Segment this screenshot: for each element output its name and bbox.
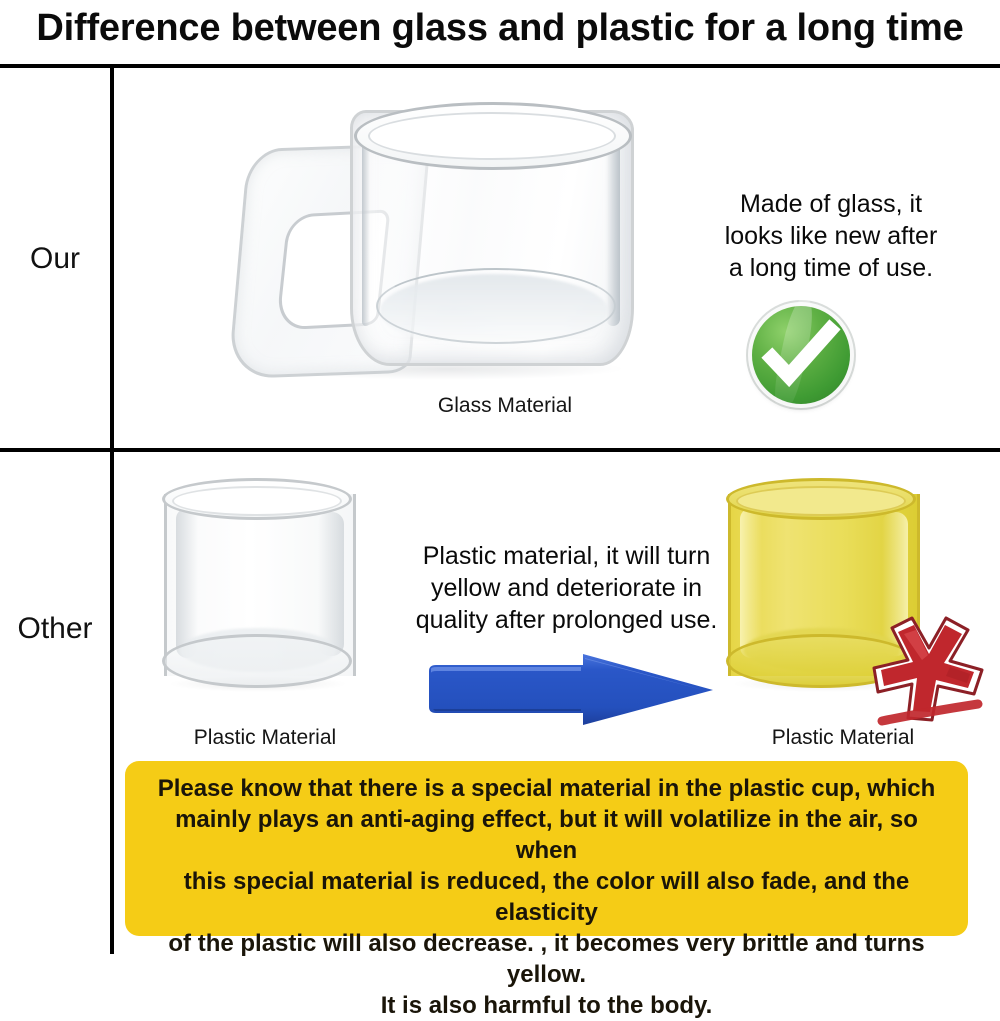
note-line-4: of the plastic will also decrease. , it … (143, 928, 950, 990)
row-label-our: Our (0, 242, 110, 276)
green-check-badge-icon (752, 306, 850, 404)
clear-cup-right-gloss (318, 512, 344, 656)
glass-mug-rim-inner (368, 112, 616, 160)
glass-callout-text: Made of glass, it looks like new after a… (666, 188, 996, 284)
clear-cup-rim-inner (172, 486, 342, 516)
plastic-callout-line-2: yellow and deteriorate in (404, 572, 729, 604)
note-line-3: this special material is reduced, the co… (143, 866, 950, 928)
glass-callout-line-3: a long time of use. (666, 252, 996, 284)
clear-cup-left-gloss (176, 508, 198, 658)
red-x-icon (866, 608, 992, 730)
glass-mug-floor-edge (376, 268, 616, 344)
plastic-material-caption-left: Plastic Material (145, 726, 385, 750)
glass-callout-line-1: Made of glass, it (666, 188, 996, 220)
yellow-cup-left-gloss (740, 508, 762, 658)
glass-mug-image (230, 96, 650, 396)
glass-material-caption: Glass Material (390, 394, 620, 418)
note-line-5: It is also harmful to the body. (143, 990, 950, 1021)
glass-mug-left-wall-highlight (362, 136, 370, 326)
row-label-other: Other (0, 612, 110, 646)
glass-callout-line-2: looks like new after (666, 220, 996, 252)
plastic-callout-text: Plastic material, it will turn yellow an… (404, 540, 729, 636)
comparison-infographic: Difference between glass and plastic for… (0, 0, 1000, 954)
clear-cup-base (162, 634, 352, 688)
table-column-divider-upper (110, 64, 114, 450)
note-line-2: mainly plays an anti-aging effect, but i… (143, 804, 950, 866)
note-line-1: Please know that there is a special mate… (143, 773, 950, 804)
check-mark-icon (752, 306, 850, 404)
table-top-divider (0, 64, 1000, 68)
blue-right-arrow-icon (425, 646, 717, 730)
plastic-callout-line-1: Plastic material, it will turn (404, 540, 729, 572)
table-column-divider-lower (110, 448, 114, 954)
plastic-callout-line-3: quality after prolonged use. (404, 604, 729, 636)
clear-plastic-cup-image (158, 478, 358, 693)
page-title: Difference between glass and plastic for… (0, 0, 1000, 62)
warning-note-box: Please know that there is a special mate… (125, 761, 968, 936)
yellow-cup-rim-inner (736, 486, 906, 516)
table-middle-divider (0, 448, 1000, 452)
